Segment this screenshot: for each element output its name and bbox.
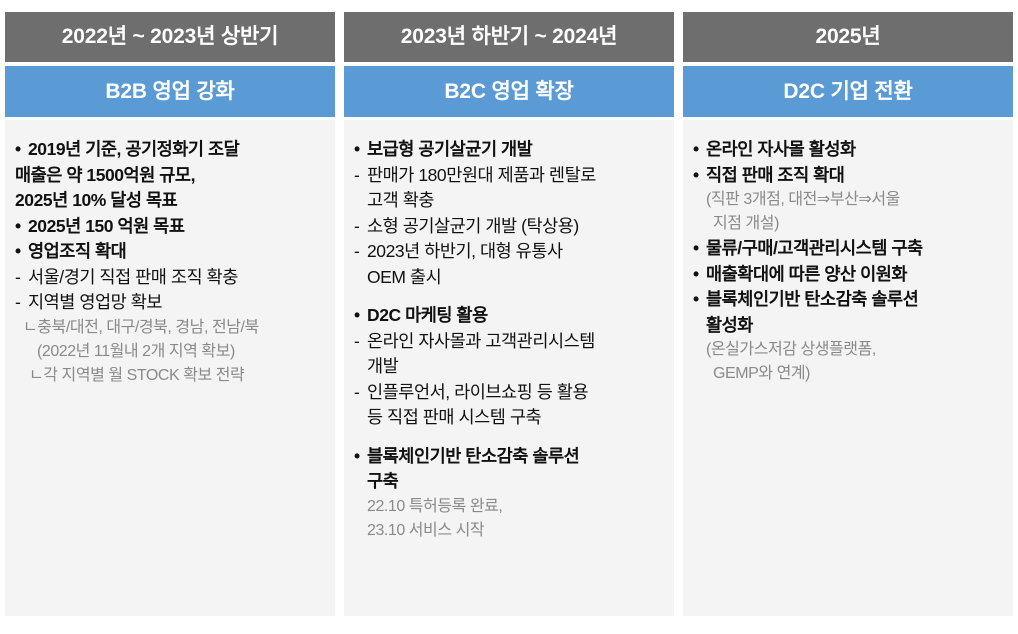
content-line: 지점 개설) (693, 212, 1005, 236)
line-text: 23.10 서비스 시작 (367, 522, 484, 539)
column-2-period-band: 2023년 하반기 ~ 2024년 (344, 12, 674, 62)
corner-icon: ㄴ (29, 367, 43, 384)
line-text: 온라인 자사몰 활성화 (706, 139, 856, 159)
content-line: -온라인 자사몰과 고객관리시스템 (354, 329, 666, 355)
column-3-title-band: D2C 기업 전환 (683, 66, 1013, 117)
line-text: 지점 개설) (713, 215, 779, 232)
content-line: •보급형 공기살균기 개발 (354, 137, 666, 163)
line-text: 고객 확충 (367, 190, 434, 210)
column-1-title-band: B2B 영업 강화 (5, 66, 335, 117)
content-line: •매출확대에 따른 양산 이원화 (693, 262, 1005, 288)
column-3-body: •온라인 자사몰 활성화•직접 판매 조직 확대(직판 3개점, 대전⇒부산⇒서… (683, 120, 1013, 616)
column-2-title-band: B2C 영업 확장 (344, 66, 674, 117)
content-line: GEMP와 연계) (693, 362, 1005, 386)
bullet-icon: • (354, 303, 367, 329)
bullet-icon: • (693, 163, 706, 189)
line-text: 개발 (367, 356, 398, 376)
content-line: 고객 확충 (354, 188, 666, 214)
line-text: 활성화 (706, 315, 753, 335)
content-line: •직접 판매 조직 확대 (693, 163, 1005, 189)
content-line: 22.10 특허등록 완료, (354, 495, 666, 519)
content-line: 구축 (354, 469, 666, 495)
content-line: •온라인 자사몰 활성화 (693, 137, 1005, 163)
content-line: OEM 출시 (354, 265, 666, 291)
corner-icon: ㄴ (23, 319, 37, 336)
content-line: 등 직접 판매 시스템 구축 (354, 405, 666, 431)
content-line: ㄴ충북/대전, 대구/경북, 경남, 전남/북 (15, 316, 327, 340)
column-3-period-band: 2025년 (683, 12, 1013, 62)
line-text: 블록체인기반 탄소감축 솔루션 (367, 446, 579, 466)
line-text: 구축 (367, 471, 398, 491)
line-text: 지역별 영업망 확보 (28, 292, 162, 312)
line-text: 2019년 기준, 공기정화기 조달 (28, 139, 239, 159)
bullet-icon: • (354, 444, 367, 470)
content-line: •D2C 마케팅 활용 (354, 303, 666, 329)
line-text: 판매가 180만원대 제품과 렌탈로 (367, 165, 596, 185)
line-text: 영업조직 확대 (28, 241, 126, 261)
content-line: •물류/구매/고객관리시스템 구축 (693, 236, 1005, 262)
line-text: 소형 공기살균기 개발 (탁상용) (367, 216, 579, 236)
bullet-icon: • (15, 239, 28, 265)
roadmap-column-2: 2023년 하반기 ~ 2024년 B2C 영업 확장 •보급형 공기살균기 개… (344, 12, 674, 616)
content-line: •블록체인기반 탄소감축 솔루션 (693, 287, 1005, 313)
content-line: -지역별 영업망 확보 (15, 290, 327, 316)
content-line: (2022년 11월내 2개 지역 확보) (15, 340, 327, 364)
content-line: •2019년 기준, 공기정화기 조달 (15, 137, 327, 163)
line-text: 매출은 약 1500억원 규모, (15, 165, 195, 185)
column-2-body: •보급형 공기살균기 개발-판매가 180만원대 제품과 렌탈로고객 확충-소형… (344, 120, 674, 616)
line-text: 보급형 공기살균기 개발 (367, 139, 532, 159)
line-text: 블록체인기반 탄소감축 솔루션 (706, 289, 918, 309)
line-text: GEMP와 연계) (713, 365, 810, 382)
bullet-icon: • (693, 137, 706, 163)
content-line: -소형 공기살균기 개발 (탁상용) (354, 214, 666, 240)
line-text: 22.10 특허등록 완료, (367, 498, 502, 515)
content-line: 개발 (354, 354, 666, 380)
dash-icon: - (354, 380, 367, 406)
bullet-icon: • (354, 137, 367, 163)
line-text: 온라인 자사몰과 고객관리시스템 (367, 331, 595, 351)
roadmap-column-3: 2025년 D2C 기업 전환 •온라인 자사몰 활성화•직접 판매 조직 확대… (683, 12, 1013, 616)
line-text: OEM 출시 (367, 267, 441, 287)
dash-icon: - (354, 239, 367, 265)
line-text: 2025년 10% 달성 목표 (15, 190, 177, 210)
dash-icon: - (15, 265, 28, 291)
dash-icon: - (354, 329, 367, 355)
line-text: 물류/구매/고객관리시스템 구축 (706, 238, 923, 258)
line-text: (2022년 11월내 2개 지역 확보) (37, 343, 235, 360)
content-line: (직판 3개점, 대전⇒부산⇒서울 (693, 188, 1005, 212)
dash-icon: - (354, 163, 367, 189)
content-line: -판매가 180만원대 제품과 렌탈로 (354, 163, 666, 189)
bullet-icon: • (15, 214, 28, 240)
roadmap-column-1: 2022년 ~ 2023년 상반기 B2B 영업 강화 •2019년 기준, 공… (5, 12, 335, 616)
line-text: 2023년 하반기, 대형 유통사 (367, 241, 563, 261)
bullet-icon: • (693, 262, 706, 288)
spacer (354, 431, 666, 444)
line-text: 인플루언서, 라이브쇼핑 등 활용 (367, 382, 588, 402)
bullet-icon: • (15, 137, 28, 163)
dash-icon: - (15, 290, 28, 316)
line-text: 직접 판매 조직 확대 (706, 165, 844, 185)
content-line: -2023년 하반기, 대형 유통사 (354, 239, 666, 265)
spacer (354, 290, 666, 303)
content-line: •영업조직 확대 (15, 239, 327, 265)
bullet-icon: • (693, 287, 706, 313)
content-line: •블록체인기반 탄소감축 솔루션 (354, 444, 666, 470)
content-line: 23.10 서비스 시작 (354, 519, 666, 543)
line-text: (온실가스저감 상생플랫폼, (706, 341, 876, 358)
content-line: (온실가스저감 상생플랫폼, (693, 338, 1005, 362)
roadmap-board: 2022년 ~ 2023년 상반기 B2B 영업 강화 •2019년 기준, 공… (0, 0, 1018, 634)
line-text: D2C 마케팅 활용 (367, 305, 488, 325)
content-line: 활성화 (693, 313, 1005, 339)
content-line: 2025년 10% 달성 목표 (15, 188, 327, 214)
content-line: ㄴ각 지역별 월 STOCK 확보 전략 (15, 364, 327, 388)
content-line: •2025년 150 억원 목표 (15, 214, 327, 240)
line-text: 각 지역별 월 STOCK 확보 전략 (43, 367, 244, 384)
line-text: 2025년 150 억원 목표 (28, 216, 184, 236)
line-text: (직판 3개점, 대전⇒부산⇒서울 (706, 191, 900, 208)
bullet-icon: • (693, 236, 706, 262)
line-text: 매출확대에 따른 양산 이원화 (706, 264, 907, 284)
dash-icon: - (354, 214, 367, 240)
content-line: -인플루언서, 라이브쇼핑 등 활용 (354, 380, 666, 406)
content-line: -서울/경기 직접 판매 조직 확충 (15, 265, 327, 291)
column-1-body: •2019년 기준, 공기정화기 조달매출은 약 1500억원 규모,2025년… (5, 120, 335, 616)
column-1-period-band: 2022년 ~ 2023년 상반기 (5, 12, 335, 62)
line-text: 충북/대전, 대구/경북, 경남, 전남/북 (37, 319, 258, 336)
content-line: 매출은 약 1500억원 규모, (15, 163, 327, 189)
line-text: 등 직접 판매 시스템 구축 (367, 407, 541, 427)
line-text: 서울/경기 직접 판매 조직 확충 (28, 267, 238, 287)
